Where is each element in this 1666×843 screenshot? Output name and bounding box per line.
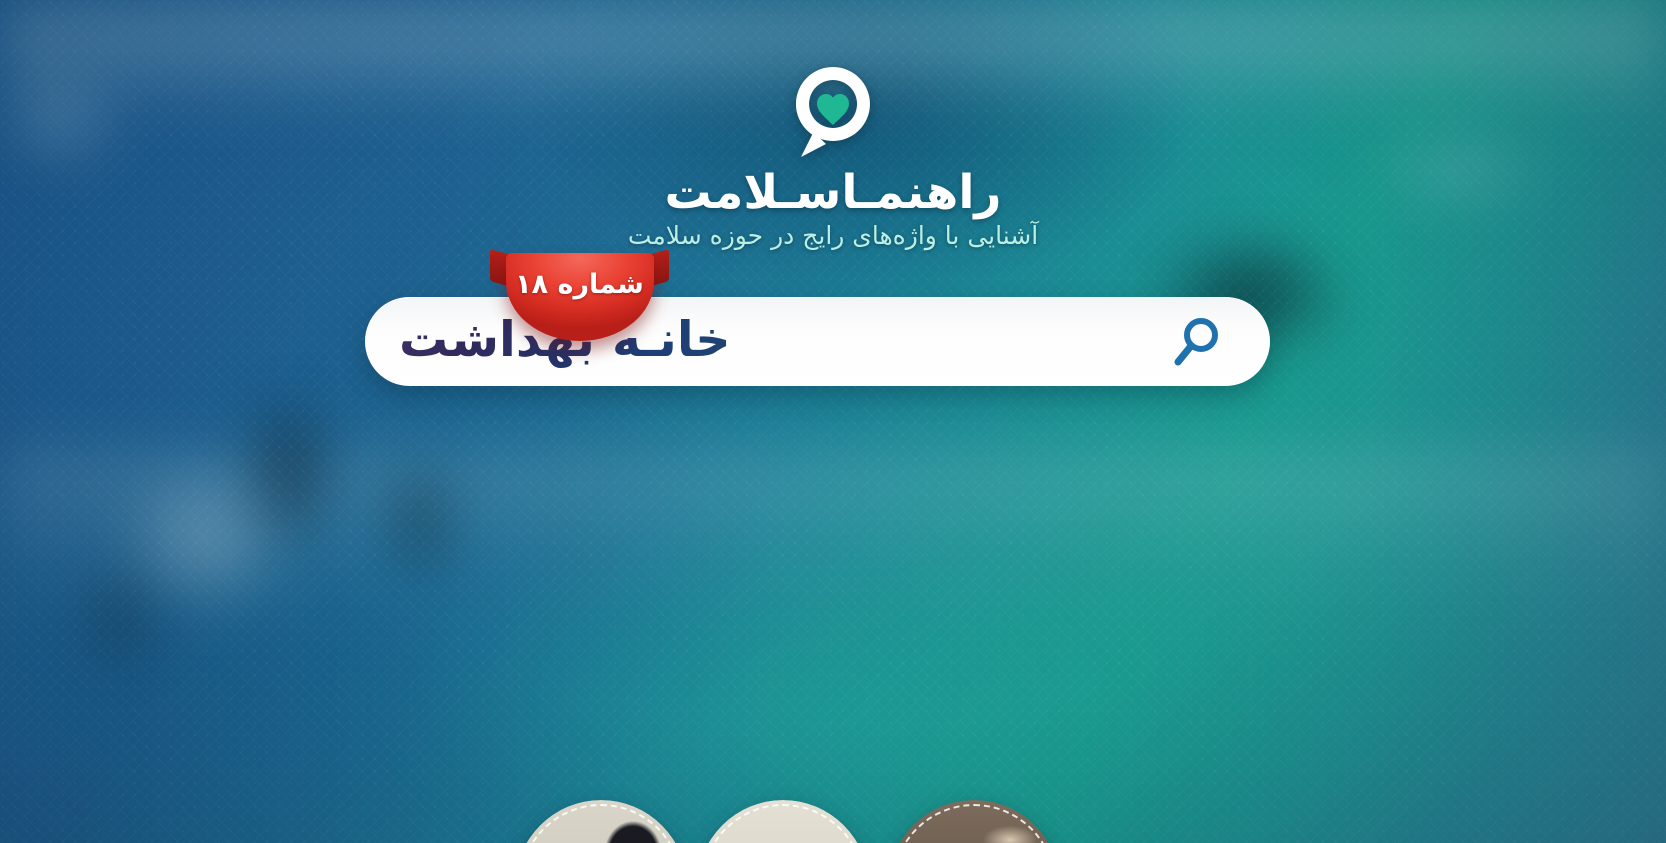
poster-canvas: راهنمـاسـلامت آشنایی با واژه‌های رایج در… <box>0 0 1666 843</box>
search-heart-logo-icon <box>786 62 880 162</box>
photo-strip <box>0 400 1666 580</box>
brand-header: راهنمـاسـلامت آشنایی با واژه‌های رایج در… <box>0 62 1666 250</box>
brand-title: راهنمـاسـلامت <box>665 168 1002 217</box>
magnifier-icon[interactable] <box>1170 315 1224 369</box>
brand-subtitle: آشنایی با واژه‌های رایج در حوزه سلامت <box>628 221 1038 250</box>
issue-number-badge: شماره ۱۸ <box>492 253 667 343</box>
issue-number-label: شماره ۱۸ <box>492 269 667 300</box>
